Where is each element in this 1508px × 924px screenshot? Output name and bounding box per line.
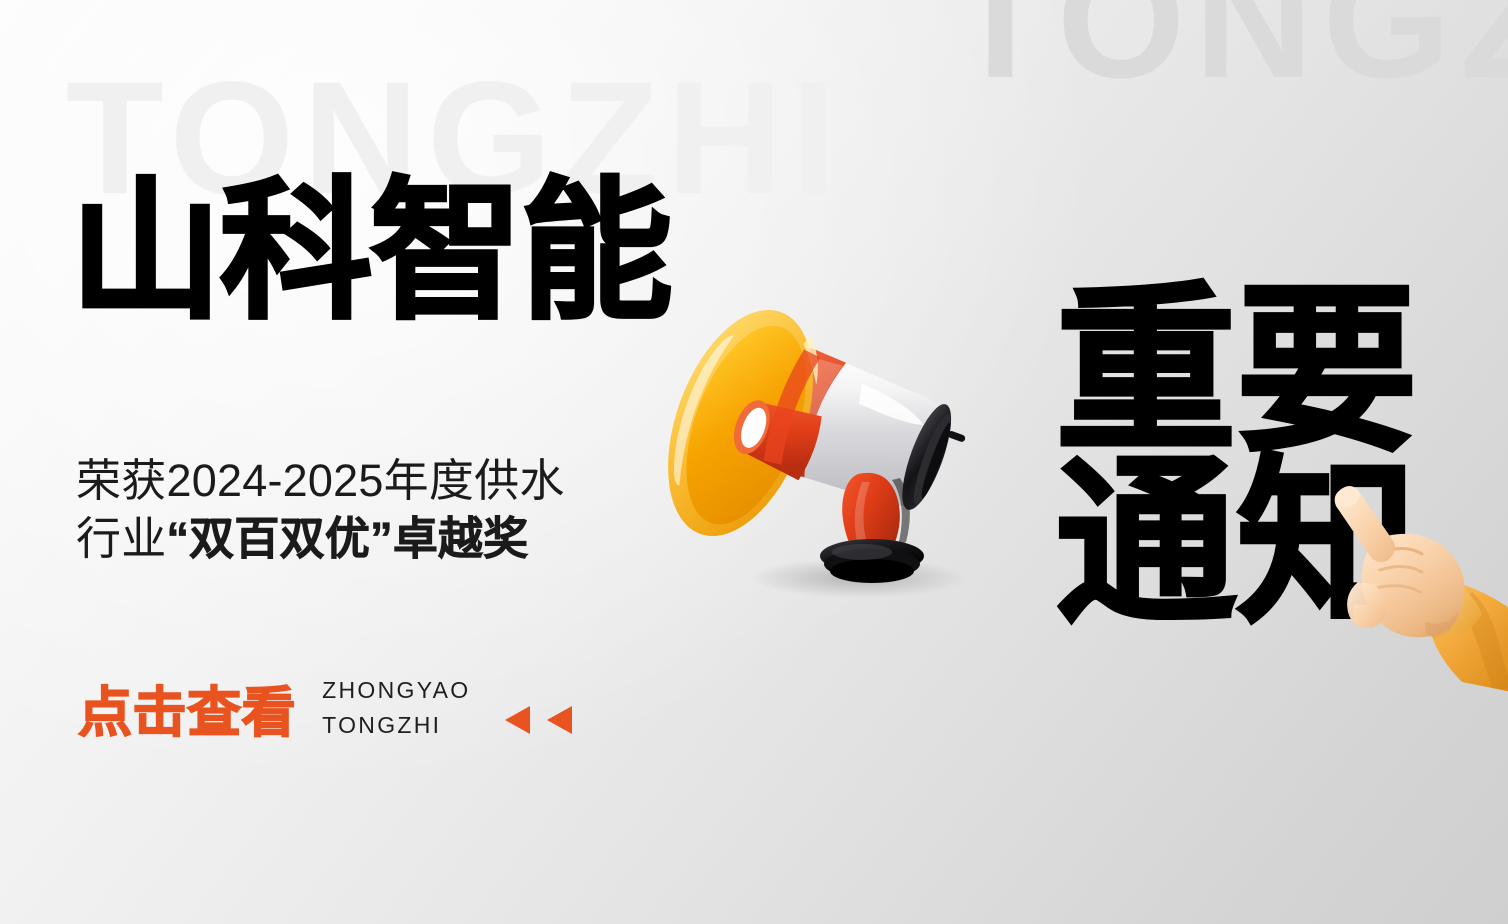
triangle-left-icon — [505, 706, 530, 734]
page-title: 山科智能 — [70, 176, 671, 328]
cta-pinyin-line-2: TONGZHI — [322, 708, 470, 743]
click-to-view-button[interactable]: 点击查看 — [78, 668, 296, 747]
subtitle: 荣获2024-2025年度供水 行业“双百双优”卓越奖 — [76, 452, 565, 567]
notice-banner: TONGZHI — [0, 0, 1508, 924]
subtitle-line-1: 荣获2024-2025年度供水 — [76, 452, 565, 510]
subtitle-line-2-quoted: “双百双优” — [166, 513, 392, 564]
notice-headline-line-1: 重要 — [1056, 286, 1418, 458]
subtitle-line-2: 行业“双百双优”卓越奖 — [76, 510, 565, 568]
subtitle-line-2-suffix: 卓越奖 — [393, 513, 529, 564]
cta-pinyin-line-1: ZHONGYAO — [322, 673, 470, 708]
triangle-left-icon — [547, 706, 572, 734]
arrow-group — [505, 682, 572, 734]
cta-row[interactable]: 点击查看 ZHONGYAO TONGZHI — [78, 668, 572, 747]
watermark-text-front: TONGZHI — [950, 0, 1508, 103]
pointing-hand-icon — [1322, 482, 1508, 692]
subtitle-line-2-prefix: 行业 — [76, 513, 166, 564]
cta-pinyin: ZHONGYAO TONGZHI — [322, 673, 470, 742]
